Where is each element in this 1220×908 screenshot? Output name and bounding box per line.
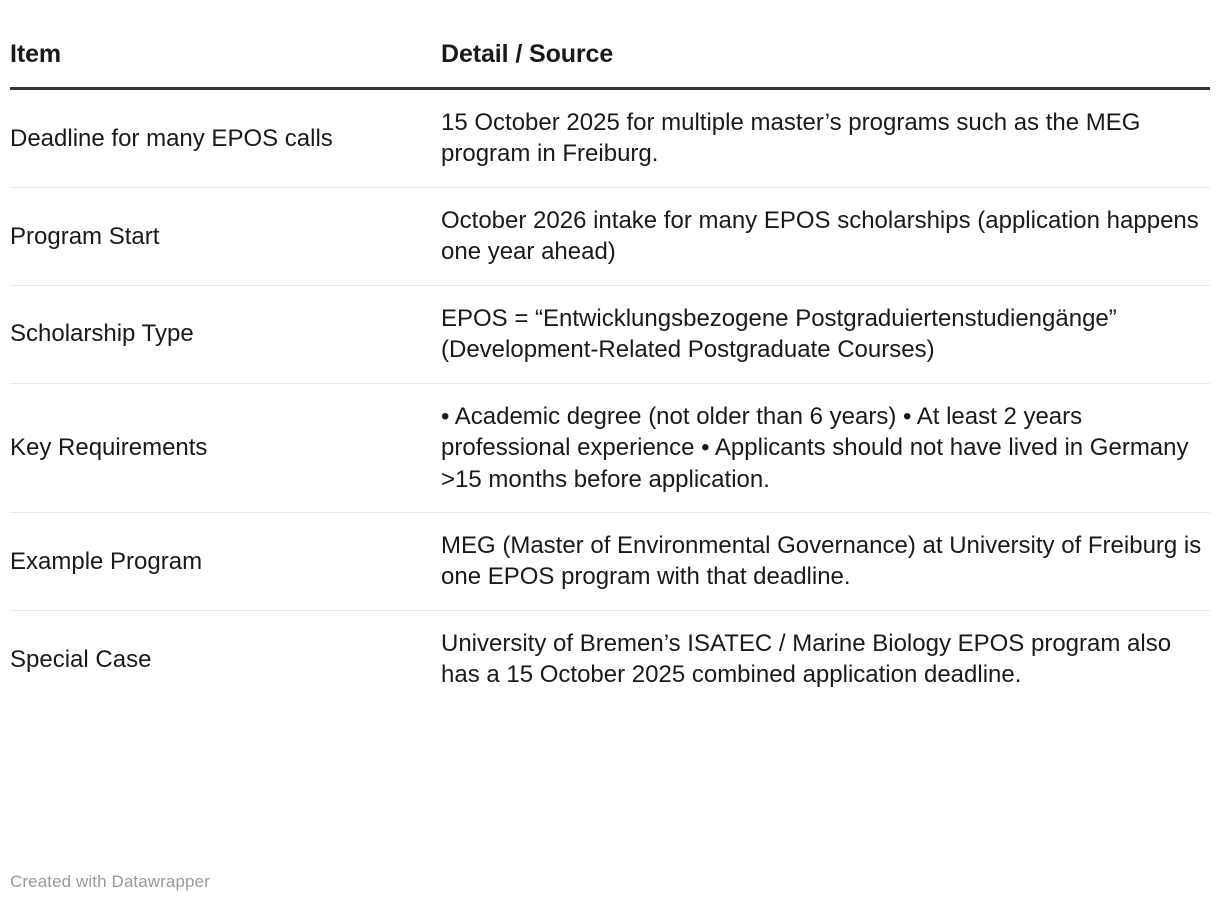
cell-item: Key Requirements (10, 383, 441, 512)
column-header-item: Item (10, 0, 441, 89)
table-row: Example Program MEG (Master of Environme… (10, 512, 1210, 610)
table-header: Item Detail / Source (10, 0, 1210, 89)
table-row: Deadline for many EPOS calls 15 October … (10, 89, 1210, 188)
table-header-row: Item Detail / Source (10, 0, 1210, 89)
table-body: Deadline for many EPOS calls 15 October … (10, 89, 1210, 708)
table-row: Scholarship Type EPOS = “Entwicklungsbez… (10, 285, 1210, 383)
table-row: Key Requirements • Academic degree (not … (10, 383, 1210, 512)
cell-detail: EPOS = “Entwicklungsbezogene Postgraduie… (441, 285, 1210, 383)
cell-detail: October 2026 intake for many EPOS schola… (441, 187, 1210, 285)
table-row: Program Start October 2026 intake for ma… (10, 187, 1210, 285)
table-chart-container: Item Detail / Source Deadline for many E… (0, 0, 1220, 908)
cell-item: Program Start (10, 187, 441, 285)
cell-item: Example Program (10, 512, 441, 610)
cell-item: Scholarship Type (10, 285, 441, 383)
cell-item: Special Case (10, 610, 441, 707)
cell-detail: MEG (Master of Environmental Governance)… (441, 512, 1210, 610)
table-row: Special Case University of Bremen’s ISAT… (10, 610, 1210, 707)
column-header-detail: Detail / Source (441, 0, 1210, 89)
cell-detail: 15 October 2025 for multiple master’s pr… (441, 89, 1210, 188)
datawrapper-credit: Created with Datawrapper (10, 872, 210, 892)
data-table: Item Detail / Source Deadline for many E… (10, 0, 1210, 708)
cell-detail: • Academic degree (not older than 6 year… (441, 383, 1210, 512)
cell-detail: University of Bremen’s ISATEC / Marine B… (441, 610, 1210, 707)
cell-item: Deadline for many EPOS calls (10, 89, 441, 188)
